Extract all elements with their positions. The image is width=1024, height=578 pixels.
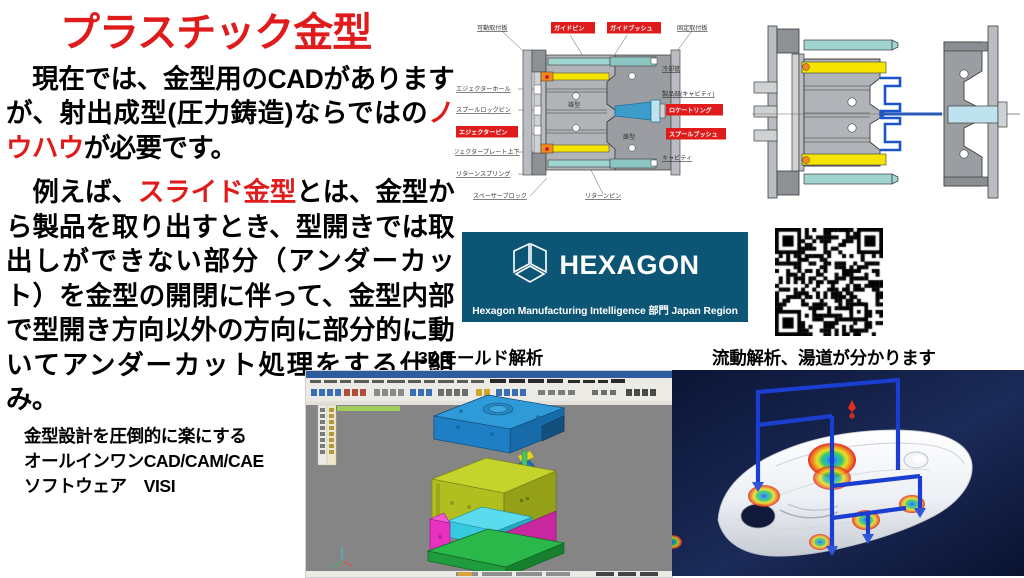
hexagon-mark-icon [510, 242, 550, 289]
mold-label-return-spring: リターンスプリング [456, 170, 510, 178]
mold-label-guidepin: ガイドピン [551, 22, 595, 34]
mold-label-sprue-bush: スプールブッシュ [666, 128, 726, 140]
qr-code[interactable] [775, 228, 883, 336]
mold-label-kadotoritsukeban: 可動取付板 [477, 24, 507, 32]
visi-footnote: 金型設計を圧倒的に楽にする オールインワンCAD/CAM/CAE ソフトウェア … [24, 424, 324, 499]
footnote-line-1: 金型設計を圧倒的に楽にする [24, 424, 324, 449]
inner-label-1: 雌型 [623, 133, 635, 141]
mold-label-ejector-hole: エジェクターホール [456, 85, 511, 93]
caption-3d-mold-analysis: 3Dモールド解析 [418, 345, 543, 370]
mold-label-locate-ring: ロケートリング [666, 104, 723, 116]
flow-analysis-screenshot[interactable] [672, 370, 1024, 576]
svg-text:ガイドピン: ガイドピン [554, 25, 584, 33]
hexagon-logo-row: HEXAGON [510, 242, 699, 289]
svg-text:スプールブッシュ: スプールブッシュ [669, 131, 718, 139]
mold-label-return-pin: リターンピン [585, 192, 621, 200]
p2-run-0: 例えば、 [6, 177, 138, 207]
caption-flow-analysis: 流動解析、湯道が分かります [712, 345, 936, 370]
inner-label-0: 雄型 [568, 101, 580, 109]
page-title: プラスチック金型 [60, 12, 450, 54]
mold-label-koteitoritsukeban: 固定取付板 [677, 24, 707, 32]
mold-label-ejector-pin: エジェクターピン [456, 126, 518, 138]
p2-run-1: スライド金型 [138, 177, 296, 207]
mold-label-spool-lock-pin: スプールロックピン [456, 107, 511, 114]
svg-text:ロケートリング: ロケートリング [669, 107, 712, 115]
mold-open-diagram [752, 14, 1020, 210]
footnote-line-2: オールインワンCAD/CAM/CAE [24, 449, 324, 474]
cad-screenshot[interactable] [305, 370, 673, 578]
mold-label-cooling-pipe: 冷却管 [662, 65, 680, 73]
footnote-line-3: ソフトウェア VISI [24, 474, 324, 499]
hexagon-banner: HEXAGON Hexagon Manufacturing Intelligen… [462, 232, 748, 322]
p1-run-2: が必要です。 [84, 133, 237, 163]
svg-text:エジェクターピン: エジェクターピン [459, 129, 508, 137]
mold-label-guidebush: ガイドブッシュ [607, 22, 661, 34]
hexagon-wordmark: HEXAGON [559, 250, 699, 281]
mold-label-ejector-plate: エジェクタープレート上下 [455, 148, 520, 156]
paragraph-1: 現在では、金型用のCADがありますが、射出成型(圧力鋳造)ならではのノウハウが必… [6, 62, 454, 165]
svg-text:ガイドブッシュ: ガイドブッシュ [610, 25, 653, 33]
mold-label-spacer-block: スペーサーブロック [473, 192, 527, 200]
p1-run-0: 現在では、金型用のCADがありますが、射出成型(圧力鋳造)ならではの [6, 64, 454, 128]
hexagon-subtitle: Hexagon Manufacturing Intelligence 部門 Ja… [472, 302, 738, 317]
mold-label-product-cavity: 製品部(キャビティ) [662, 90, 714, 98]
mold-label-cavity: キャビティ [662, 154, 692, 162]
slide-root: プラスチック金型 現在では、金型用のCADがありますが、射出成型(圧力鋳造)なら… [0, 0, 1024, 576]
mold-cross-section-diagram: 雄型 雌型 可動取付板 ガイドピン ガイドブッシュ 固定取付板 エジェクターホー… [455, 6, 750, 216]
